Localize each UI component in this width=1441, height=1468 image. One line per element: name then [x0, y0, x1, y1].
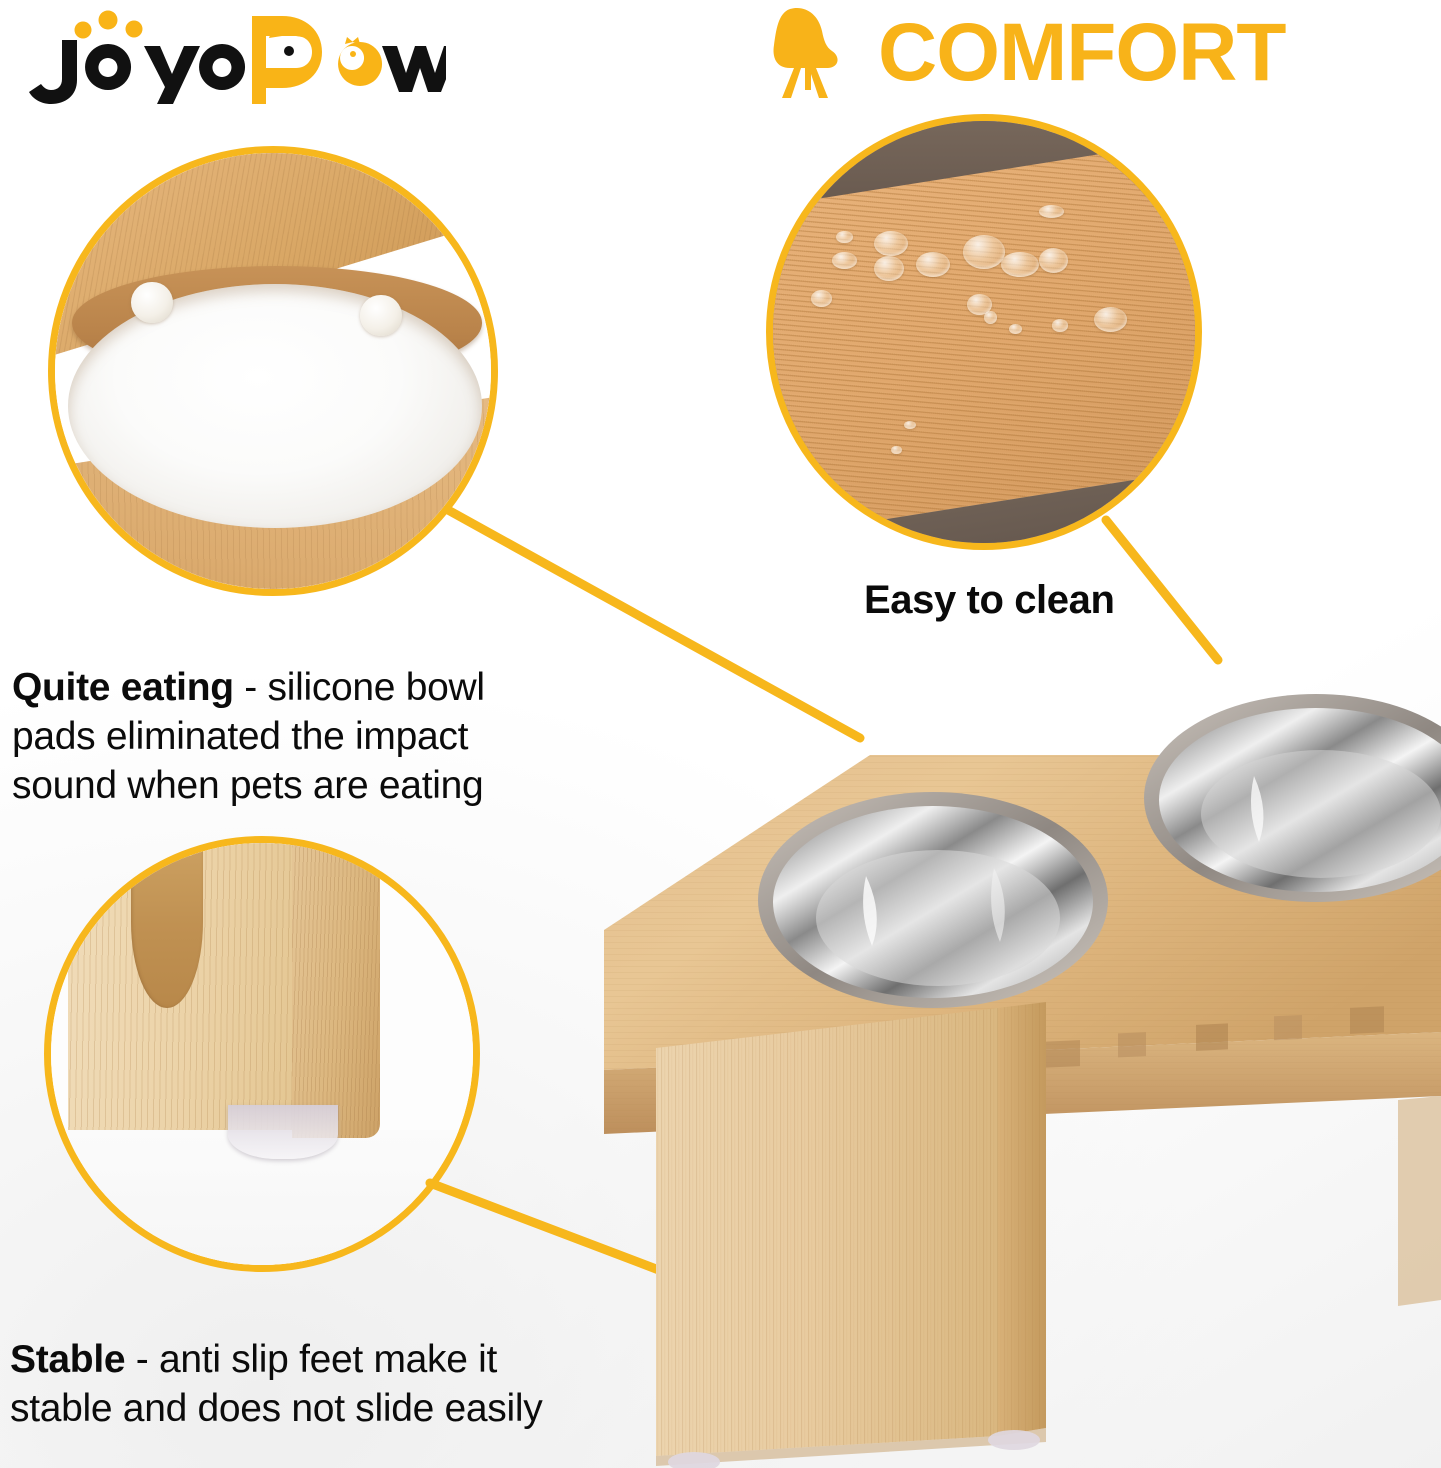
comfort-label: COMFORT — [878, 12, 1285, 94]
bowl-cutout-opening — [68, 284, 482, 528]
water-drop-icon — [891, 446, 902, 454]
armchair-icon — [770, 5, 856, 101]
water-drop-icon — [1039, 248, 1069, 273]
water-drop-icon — [811, 290, 832, 307]
bowl-left — [758, 792, 1108, 1008]
feature-separator: - — [234, 666, 268, 709]
feature-separator: - — [125, 1338, 159, 1381]
joyopaw-logo-icon — [26, 6, 446, 104]
silicone-pad-left-icon — [131, 282, 172, 323]
feeder-leg-side-grain — [998, 1002, 1046, 1436]
water-drop-icon — [874, 231, 908, 256]
leg-groove — [131, 836, 203, 1008]
water-drop-icon — [832, 252, 857, 269]
feature-text-easy-to-clean: Easy to clean — [864, 578, 1114, 623]
water-drop-icon — [1052, 319, 1069, 332]
feature-title-quiet-eating: Quite eating — [12, 666, 234, 709]
silicone-pad-right-icon — [360, 295, 401, 336]
callout-image-easy-to-clean — [766, 114, 1202, 550]
feature-text-stable: Stable - anti slip feet make it stable a… — [10, 1286, 640, 1433]
silicone-pad-photo — [55, 153, 491, 589]
anti-slip-foot-photo — [51, 843, 473, 1265]
anti-slip-pad-icon — [228, 1105, 338, 1160]
callout-image-quiet-eating — [48, 146, 498, 596]
water-drop-icon — [984, 311, 997, 324]
water-drop-icon — [874, 256, 904, 281]
water-drop-icon — [1094, 307, 1128, 332]
feature-text-quiet-eating: Quite eating - silicone bowl pads elimin… — [12, 614, 632, 810]
feeder-leg-far — [1398, 1096, 1441, 1306]
product-photo-pet-feeder — [598, 600, 1441, 1468]
comfort-badge: COMFORT — [770, 0, 1330, 106]
water-drop-icon — [1009, 324, 1022, 335]
leg-groove-cap — [142, 836, 193, 856]
water-drop-icon — [963, 235, 1005, 269]
feature-title-stable: Stable — [10, 1338, 125, 1381]
water-drop-icon — [1001, 252, 1039, 277]
callout-image-stable — [44, 836, 480, 1272]
feeder-leg-front-grain — [656, 1008, 998, 1456]
bamboo-leg-side — [292, 836, 381, 1138]
infographic-canvas: COMFORT — [0, 0, 1441, 1468]
water-droplet-photo — [773, 121, 1195, 543]
anti-slip-foot-right — [988, 1430, 1040, 1450]
water-drop-icon — [1039, 205, 1064, 218]
brand-logo — [26, 6, 446, 104]
